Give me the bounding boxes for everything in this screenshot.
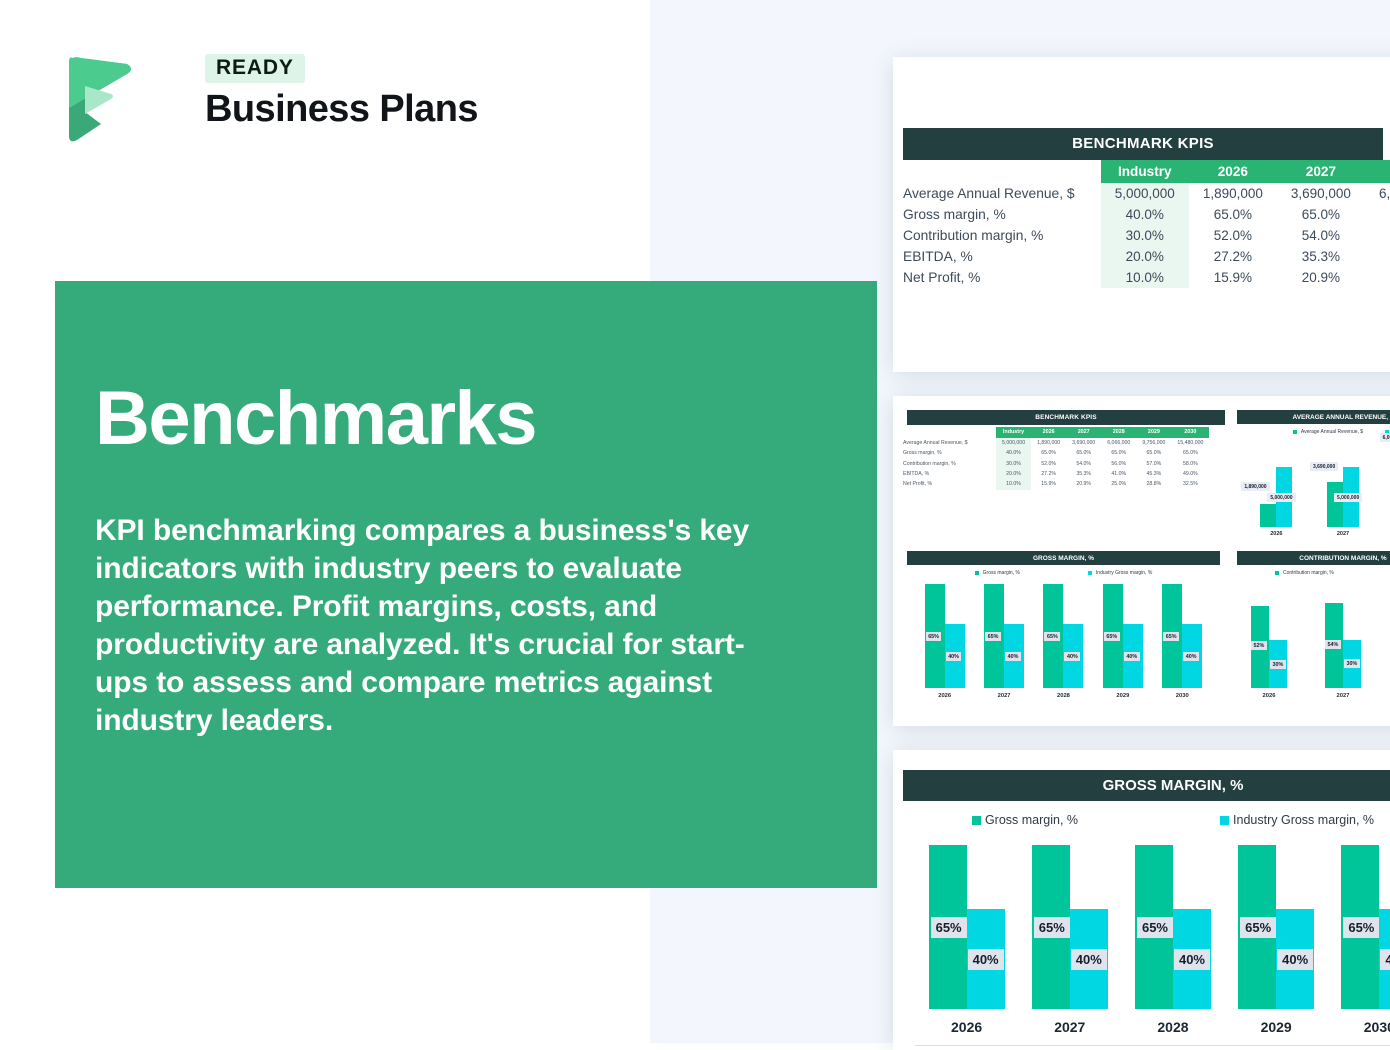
legend-item: Gross margin, % [972,813,1078,827]
cell-2028: 65.0% [1101,448,1136,458]
cell-2026: 1,890,000 [1031,438,1066,448]
table-header-2026: 2026 [1189,160,1277,183]
bar-value-label: 52% [1251,641,1267,650]
bar-value-label: 54% [1325,640,1341,649]
chart-x-axis: 2026 2027 2028 [1243,531,1390,537]
legend-item: Gross margin, % [975,570,1020,576]
bar-value-label: 40% [1005,652,1021,661]
legend-item: Industry Gross margin, % [1088,570,1152,576]
table-row: Net Profit, % 10.0% 15.9% 20.9% 25.0% 28… [901,479,1209,489]
cell-2029: 57.0% [1136,458,1171,468]
chart-average-annual-revenue-mini: AVERAGE ANNUAL REVENUE, $ Average Annual… [1233,410,1390,558]
bar-group: 65% 40% [1341,845,1390,1009]
x-tick: 2027 [1325,693,1361,699]
table-row: Average Annual Revenue, $ 5,000,000 1,89… [903,183,1390,204]
bar-value-label: 40% [1124,652,1140,661]
cell-industry: 20.0% [996,469,1031,479]
cell-2030: 32.5% [1171,479,1209,489]
x-tick: 2027 [998,693,1011,699]
bar-value-label: 65% [1343,917,1379,938]
cell-2026: 65.0% [1031,448,1066,458]
cell-industry: 10.0% [1101,267,1189,288]
cell-2028: 56.0% [1365,225,1390,246]
cell-2026: 52.0% [1031,458,1066,468]
row-label: Net Profit, % [903,267,1101,288]
cell-2030: 65.0% [1171,448,1209,458]
bar-value-label: 6,066,000 [1380,433,1390,442]
bar-value-label: 65% [1163,632,1179,641]
cell-2027: 20.9% [1066,479,1101,489]
bar-group: 65% 40% [1238,845,1314,1009]
bar-value-label: 40% [1174,949,1210,970]
row-label: Gross margin, % [903,204,1101,225]
cell-2026: 65.0% [1189,204,1277,225]
chart-contribution-margin-mini: CONTRIBUTION MARGIN, % Contribution marg… [1233,551,1390,716]
table-header-2030: 2030 [1171,427,1209,438]
ready-badge: READY [205,54,305,83]
legend-label: Average Annual Revenue, $ [1301,429,1363,435]
x-tick: 2026 [938,693,951,699]
cell-industry: 40.0% [1101,204,1189,225]
benchmark-table-title: BENCHMARK KPIS [903,128,1383,160]
table-row: Gross margin, % 40.0% 65.0% 65.0% 65.0% … [901,448,1209,458]
legend-swatch-icon [972,816,981,825]
cell-2026: 27.2% [1189,246,1277,267]
bar-group: 65% 40% [984,584,1024,688]
brand-logo: READY Business Plans [55,52,455,162]
bar-group: 65% 40% [1043,584,1083,688]
legend-swatch-icon [1088,571,1092,575]
bar-value-label: 40% [1064,652,1080,661]
legend-item: Contribution margin, % [1275,570,1334,576]
cell-2027: 3,690,000 [1277,183,1365,204]
chart-title: GROSS MARGIN, % [903,770,1390,801]
bar-value-label: 65% [1044,632,1060,641]
legend-item: Industry Gross margin, % [1220,813,1374,827]
x-tick: 2027 [1337,531,1349,537]
bar-group: 1,890,000 5,000,000 [1260,467,1292,527]
table-row: EBITDA, % 20.0% 27.2% 35.3% 41.0% 45.3% … [901,469,1209,479]
legend-label: Industry Gross margin, % [1233,813,1374,827]
legend-label: Industry Gross margin, % [1096,570,1152,576]
row-label: Net Profit, % [901,479,996,489]
row-label: EBITDA, % [901,469,996,479]
chart-plot-area: 52% 30% 54% 30% 56% [1243,598,1390,688]
x-tick: 2030 [1364,1019,1390,1035]
table-header-blank [903,160,1101,183]
bar-group: 54% 30% [1325,603,1361,688]
bar-value-label: 30% [1344,659,1360,668]
table-row: Contribution margin, % 30.0% 52.0% 54.0%… [901,458,1209,468]
table-row: Average Annual Revenue, $ 5,000,000 1,89… [901,438,1209,448]
legend-label: Gross margin, % [985,813,1078,827]
x-tick: 2026 [1270,531,1282,537]
cell-2029: 9,756,000 [1136,438,1171,448]
cell-2030: 49.0% [1171,469,1209,479]
hero-description: KPI benchmarking compares a business's k… [95,512,755,741]
bar-group: 3,690,000 5,000,000 [1327,467,1359,527]
bar-group: 52% 30% [1251,606,1287,688]
cell-2028: 25.0% [1101,479,1136,489]
bar-value-label: 65% [926,632,942,641]
chart-title: GROSS MARGIN, % [907,551,1220,565]
bar-group: 65% 40% [1135,845,1211,1009]
bar-value-label: 65% [1104,632,1120,641]
cell-industry: 40.0% [996,448,1031,458]
cell-2027: 20.9% [1277,267,1365,288]
bar-group: 65% 40% [1103,584,1143,688]
table-row: Contribution margin, % 30.0% 52.0% 54.0%… [903,225,1390,246]
bar-value-label: 65% [1240,917,1276,938]
chart-title: CONTRIBUTION MARGIN, % [1237,551,1390,565]
bar-value-label: 40% [1277,949,1313,970]
row-label: Contribution margin, % [903,225,1101,246]
row-label: EBITDA, % [903,246,1101,267]
bar-value-label: 65% [985,632,1001,641]
hero-panel: Benchmarks KPI benchmarking compares a b… [55,281,877,888]
mini-benchmark-table: Industry 2026 2027 2028 2029 2030 Averag… [901,427,1209,490]
legend-item: Average Annual Revenue, $ [1293,429,1363,435]
x-tick: 2028 [1157,1019,1188,1035]
chart-x-axis: 2026 2027 2028 2029 2030 [915,693,1212,699]
cell-2027: 35.3% [1277,246,1365,267]
dashboard-card: BENCHMARK KPIS Industry 2026 2027 2028 2… [893,396,1390,726]
bar-value-label: 65% [931,917,967,938]
cell-2028: 65.0% [1365,204,1390,225]
cell-industry: 20.0% [1101,246,1189,267]
cell-2029: 45.3% [1136,469,1171,479]
cell-2026: 27.2% [1031,469,1066,479]
x-tick: 2029 [1261,1019,1292,1035]
cell-2029: 65.0% [1136,448,1171,458]
bar-series-primary [1327,482,1343,527]
benchmark-table-card: BENCHMARK KPIS Industry 2026 2027 2028 A… [893,57,1390,372]
cell-2028: 56.0% [1101,458,1136,468]
page-title: Benchmarks [95,381,782,457]
chart-gross-margin-mini: GROSS MARGIN, % Gross margin, % Industry… [901,551,1226,716]
x-tick: 2026 [951,1019,982,1035]
benchmark-table-wrap: BENCHMARK KPIS Industry 2026 2027 2028 A… [903,128,1390,288]
bar-group: 65% 40% [929,845,1005,1009]
cell-industry: 30.0% [1101,225,1189,246]
legend-swatch-icon [1220,816,1229,825]
cell-2026: 15.9% [1189,267,1277,288]
cell-industry: 5,000,000 [996,438,1031,448]
cell-2027: 54.0% [1277,225,1365,246]
bar-value-label: 30% [1270,660,1286,669]
cell-2026: 52.0% [1189,225,1277,246]
table-header-row: Industry 2026 2027 2028 [903,160,1390,183]
cell-2026: 1,890,000 [1189,183,1277,204]
legend-label: Gross margin, % [983,570,1020,576]
bar-value-label: 40% [1183,652,1199,661]
table-header-2027: 2027 [1066,427,1101,438]
cell-2028: 41.0% [1365,246,1390,267]
bar-value-label: 1,890,000 [1241,482,1269,491]
bar-value-label: 3,690,000 [1310,462,1338,471]
bar-value-label: 65% [1137,917,1173,938]
bar-value-label: 5,000,000 [1334,493,1362,502]
table-header-2028: 2028 [1101,427,1136,438]
cell-2029: 28.8% [1136,479,1171,489]
cell-2027: 65.0% [1277,204,1365,225]
cell-2027: 54.0% [1066,458,1101,468]
bar-group: 65% 40% [1162,584,1202,688]
table-header-2028: 2028 [1365,160,1390,183]
table-header-2029: 2029 [1136,427,1171,438]
bar-value-label: 40% [1380,949,1390,970]
play-triangle-logo-icon [55,52,145,144]
cell-industry: 10.0% [996,479,1031,489]
legend-label: Contribution margin, % [1283,570,1334,576]
legend-swatch-icon [1293,430,1297,434]
bar-value-label: 5,000,000 [1267,493,1295,502]
chart-plot-area: 65% 40% 65% 40% 65% 40% 65% 40% 65% 40% [915,845,1390,1009]
cell-industry: 30.0% [996,458,1031,468]
row-label: Average Annual Revenue, $ [903,183,1101,204]
x-tick: 2027 [1054,1019,1085,1035]
bar-series-primary [1260,504,1276,527]
legend-swatch-icon [975,571,979,575]
table-row: Gross margin, % 40.0% 65.0% 65.0% 65.0% [903,204,1390,225]
chart-title: AVERAGE ANNUAL REVENUE, $ [1237,410,1390,424]
row-label: Gross margin, % [901,448,996,458]
bar-group: 65% 40% [1032,845,1108,1009]
table-header-row: Industry 2026 2027 2028 2029 2030 [901,427,1209,438]
brand-name: Business Plans [205,90,478,130]
cell-2027: 3,690,000 [1066,438,1101,448]
table-header-industry: Industry [1101,160,1189,183]
mini-benchmark-table-wrap: BENCHMARK KPIS Industry 2026 2027 2028 2… [901,410,1226,490]
legend-swatch-icon [1275,571,1279,575]
gross-margin-chart-card: GROSS MARGIN, % Gross margin, % Industry… [893,750,1390,1050]
chart-x-axis: 2026 2027 2028 2029 2030 [915,1019,1390,1035]
mini-benchmark-title: BENCHMARK KPIS [907,410,1225,425]
x-tick: 2030 [1176,693,1189,699]
table-header-industry: Industry [996,427,1031,438]
table-row: EBITDA, % 20.0% 27.2% 35.3% 41.0% [903,246,1390,267]
chart-legend: Average Annual Revenue, $ [1233,429,1390,435]
bar-value-label: 65% [1034,917,1070,938]
x-tick: 2028 [1057,693,1070,699]
table-header-blank [901,427,996,438]
cell-2030: 58.0% [1171,458,1209,468]
cell-2027: 65.0% [1066,448,1101,458]
table-header-2026: 2026 [1031,427,1066,438]
benchmark-table: Industry 2026 2027 2028 Average Annual R… [903,160,1390,288]
cell-2030: 15,480,000 [1171,438,1209,448]
chart-x-axis: 2026 2027 [1251,693,1390,699]
cell-2028: 6,066,000 [1101,438,1136,448]
cell-industry: 5,000,000 [1101,183,1189,204]
row-label: Contribution margin, % [901,458,996,468]
bar-group: 65% 40% [925,584,965,688]
table-header-2027: 2027 [1277,160,1365,183]
chart-legend: Gross margin, % Industry Gross margin, % [893,813,1390,827]
x-tick: 2026 [1251,693,1287,699]
chart-legend: Contribution margin, % [1233,570,1390,576]
row-label: Average Annual Revenue, $ [901,438,996,448]
cell-2026: 15.9% [1031,479,1066,489]
chart-plot-area: 1,890,000 5,000,000 3,690,000 5,000,000 … [1243,455,1390,527]
bar-value-label: 40% [946,652,962,661]
bar-value-label: 40% [968,949,1004,970]
cell-2028: 6,066,000 [1365,183,1390,204]
bar-value-label: 40% [1071,949,1107,970]
chart-bottom-rule [915,1045,1390,1046]
table-row: Net Profit, % 10.0% 15.9% 20.9% 25.0% [903,267,1390,288]
cell-2027: 35.3% [1066,469,1101,479]
x-tick: 2029 [1116,693,1129,699]
chart-plot-area: 65% 40% 65% 40% 65% 40% 65% 40% [915,584,1212,688]
cell-2028: 41.0% [1101,469,1136,479]
chart-legend: Gross margin, % Industry Gross margin, % [901,570,1226,576]
cell-2028: 25.0% [1365,267,1390,288]
